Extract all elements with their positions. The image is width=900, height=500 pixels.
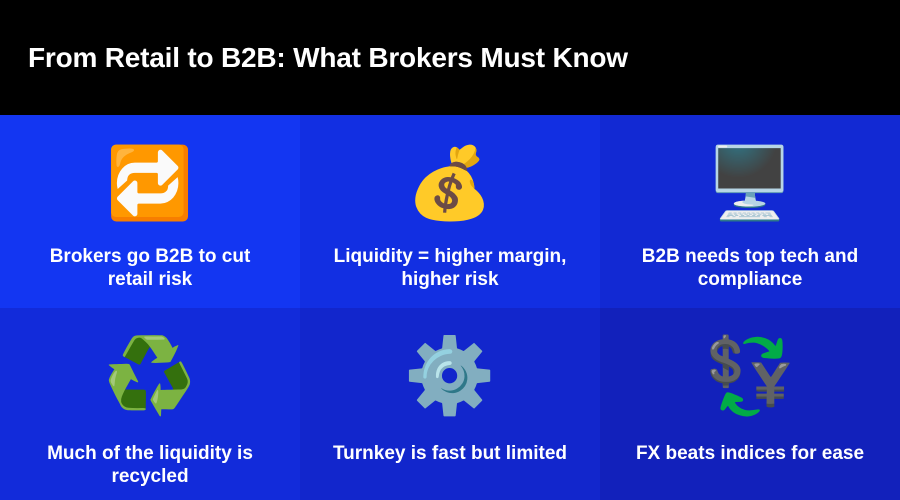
tile-card[interactable]: 🔁 Brokers go B2B to cut retail risk: [0, 115, 300, 308]
tile-caption: Turnkey is fast but limited: [327, 442, 573, 465]
currency-exchange-icon: 💱: [704, 330, 796, 422]
tile-card[interactable]: ⚙️ Turnkey is fast but limited: [300, 308, 600, 500]
tile-caption: Brokers go B2B to cut retail risk: [22, 245, 278, 291]
repeat-icon: 🔁: [106, 137, 193, 229]
tile-caption: FX beats indices for ease: [630, 442, 870, 465]
money-bag-icon: 💰: [406, 137, 493, 229]
tile-card[interactable]: ♻️ Much of the liquidity is recycled: [0, 308, 300, 500]
tile-grid: 🔁 Brokers go B2B to cut retail risk 💰 Li…: [0, 115, 900, 500]
tile-card[interactable]: 💱 FX beats indices for ease: [600, 308, 900, 500]
slide-canvas: From Retail to B2B: What Brokers Must Kn…: [0, 0, 900, 500]
tile-caption: Liquidity = higher margin, higher risk: [322, 245, 578, 291]
tile-card[interactable]: 💰 Liquidity = higher margin, higher risk: [300, 115, 600, 308]
gear-icon: ⚙️: [404, 330, 496, 422]
tile-caption: B2B needs top tech and compliance: [622, 245, 878, 291]
recycling-icon: ♻️: [104, 330, 196, 422]
desktop-computer-icon: 🖥️: [706, 137, 793, 229]
slide-header: From Retail to B2B: What Brokers Must Kn…: [0, 0, 900, 115]
page-title: From Retail to B2B: What Brokers Must Kn…: [0, 41, 628, 75]
tile-caption: Much of the liquidity is recycled: [22, 442, 278, 488]
tile-card[interactable]: 🖥️ B2B needs top tech and compliance: [600, 115, 900, 308]
